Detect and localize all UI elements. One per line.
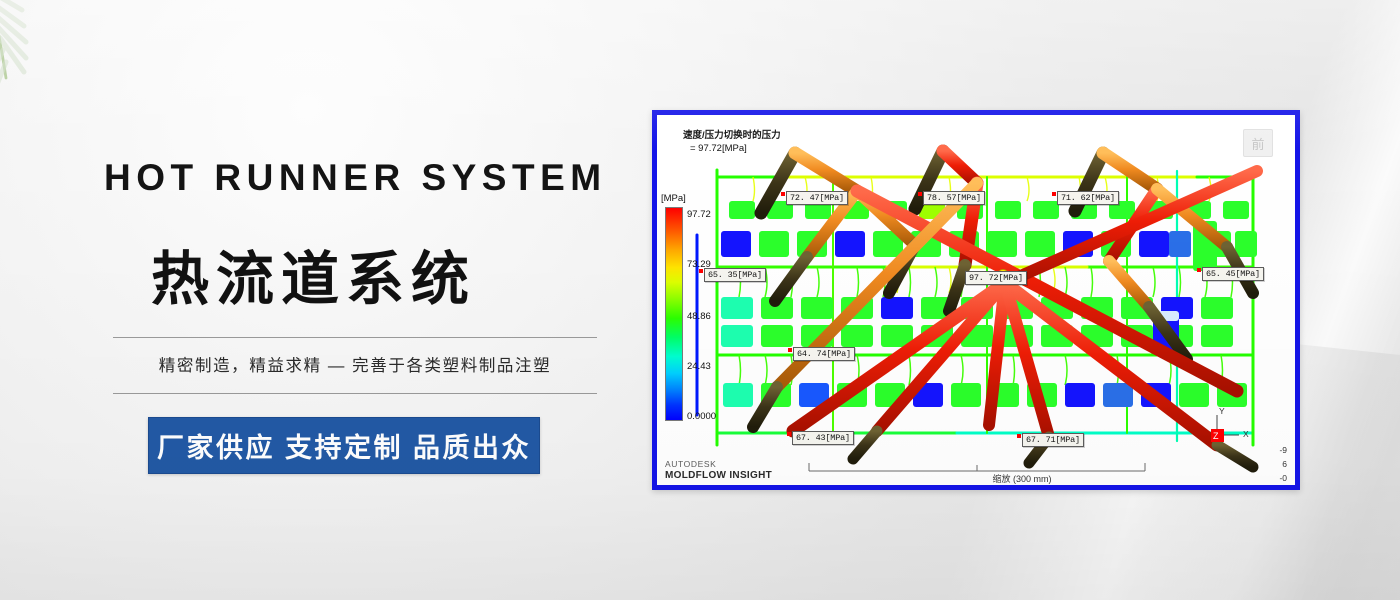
front-view-button[interactable]: 前 bbox=[1243, 129, 1273, 157]
autodesk-branding: AUTODESK MOLDFLOW INSIGHT bbox=[665, 459, 772, 481]
pressure-callout: 97. 72[MPa] bbox=[965, 271, 1027, 285]
pressure-callout: 72. 47[MPa] bbox=[786, 191, 848, 205]
moldflow-simulation-panel: Z Y X 速度/压力切换时的压力 = 97.72[MPa] [MPa] 97.… bbox=[652, 110, 1300, 490]
cta-banner[interactable]: 厂家供应 支持定制 品质出众 bbox=[148, 417, 540, 474]
result-title-line2: = 97.72[MPa] bbox=[690, 142, 781, 155]
product-name: MOLDFLOW INSIGHT bbox=[665, 470, 772, 481]
result-title: 速度/压力切换时的压力 = 97.72[MPa] bbox=[683, 129, 781, 155]
legend-tick-2: 48.86 bbox=[687, 311, 711, 322]
scale-bar-caption: 缩放 (300 mm) bbox=[857, 472, 1187, 485]
divider-top bbox=[113, 337, 597, 338]
axis-value-2: -0 bbox=[1279, 473, 1287, 483]
svg-text:Z: Z bbox=[1213, 431, 1219, 441]
pressure-callout: 65. 45[MPa] bbox=[1202, 267, 1264, 281]
callout-marker bbox=[1197, 268, 1201, 272]
result-title-line1: 速度/压力切换时的压力 bbox=[683, 129, 781, 142]
vendor-name: AUTODESK bbox=[665, 459, 772, 470]
legend-tick-4: 0.0000 bbox=[687, 411, 716, 422]
hot-runner-system-banner: HOT RUNNER SYSTEM 热流道系统 精密制造，精益求精 — 完善于各… bbox=[0, 0, 1400, 600]
subtitle: 精密制造，精益求精 — 完善于各类塑料制品注塑 bbox=[113, 352, 597, 376]
simulation-plot: Z Y X 速度/压力切换时的压力 = 97.72[MPa] [MPa] 97.… bbox=[657, 115, 1295, 485]
legend-tick-0: 97.72 bbox=[687, 209, 711, 220]
pressure-callout: 78. 57[MPa] bbox=[923, 191, 985, 205]
callout-marker bbox=[787, 432, 791, 436]
callout-marker bbox=[918, 192, 922, 196]
callout-marker bbox=[788, 348, 792, 352]
callout-marker bbox=[1052, 192, 1056, 196]
pressure-callout: 71. 62[MPa] bbox=[1057, 191, 1119, 205]
cta-label: 厂家供应 支持定制 品质出众 bbox=[157, 426, 531, 465]
pressure-callout: 64. 74[MPa] bbox=[793, 347, 855, 361]
pressure-callout: 67. 71[MPa] bbox=[1022, 433, 1084, 447]
legend-tick-3: 24.43 bbox=[687, 361, 711, 372]
callout-marker bbox=[699, 269, 703, 273]
legend-unit-label: [MPa] bbox=[661, 193, 686, 204]
axis-value-0: -9 bbox=[1279, 445, 1287, 455]
pressure-callout: 67. 43[MPa] bbox=[792, 431, 854, 445]
palm-leaf-decoration bbox=[0, 0, 116, 140]
page-title: HOT RUNNER SYSTEM bbox=[104, 157, 604, 199]
svg-text:X: X bbox=[1243, 429, 1249, 439]
callout-marker bbox=[1017, 434, 1021, 438]
svg-text:Y: Y bbox=[1219, 406, 1225, 416]
page-title-cn: 热流道系统 bbox=[151, 232, 571, 316]
axis-value-1: 6 bbox=[1282, 459, 1287, 469]
pressure-callout: 65. 35[MPa] bbox=[704, 268, 766, 282]
divider-bottom bbox=[113, 393, 597, 394]
runner-network-graphic: Z Y X bbox=[657, 115, 1295, 485]
callout-marker bbox=[781, 192, 785, 196]
color-legend-bar bbox=[665, 207, 683, 421]
